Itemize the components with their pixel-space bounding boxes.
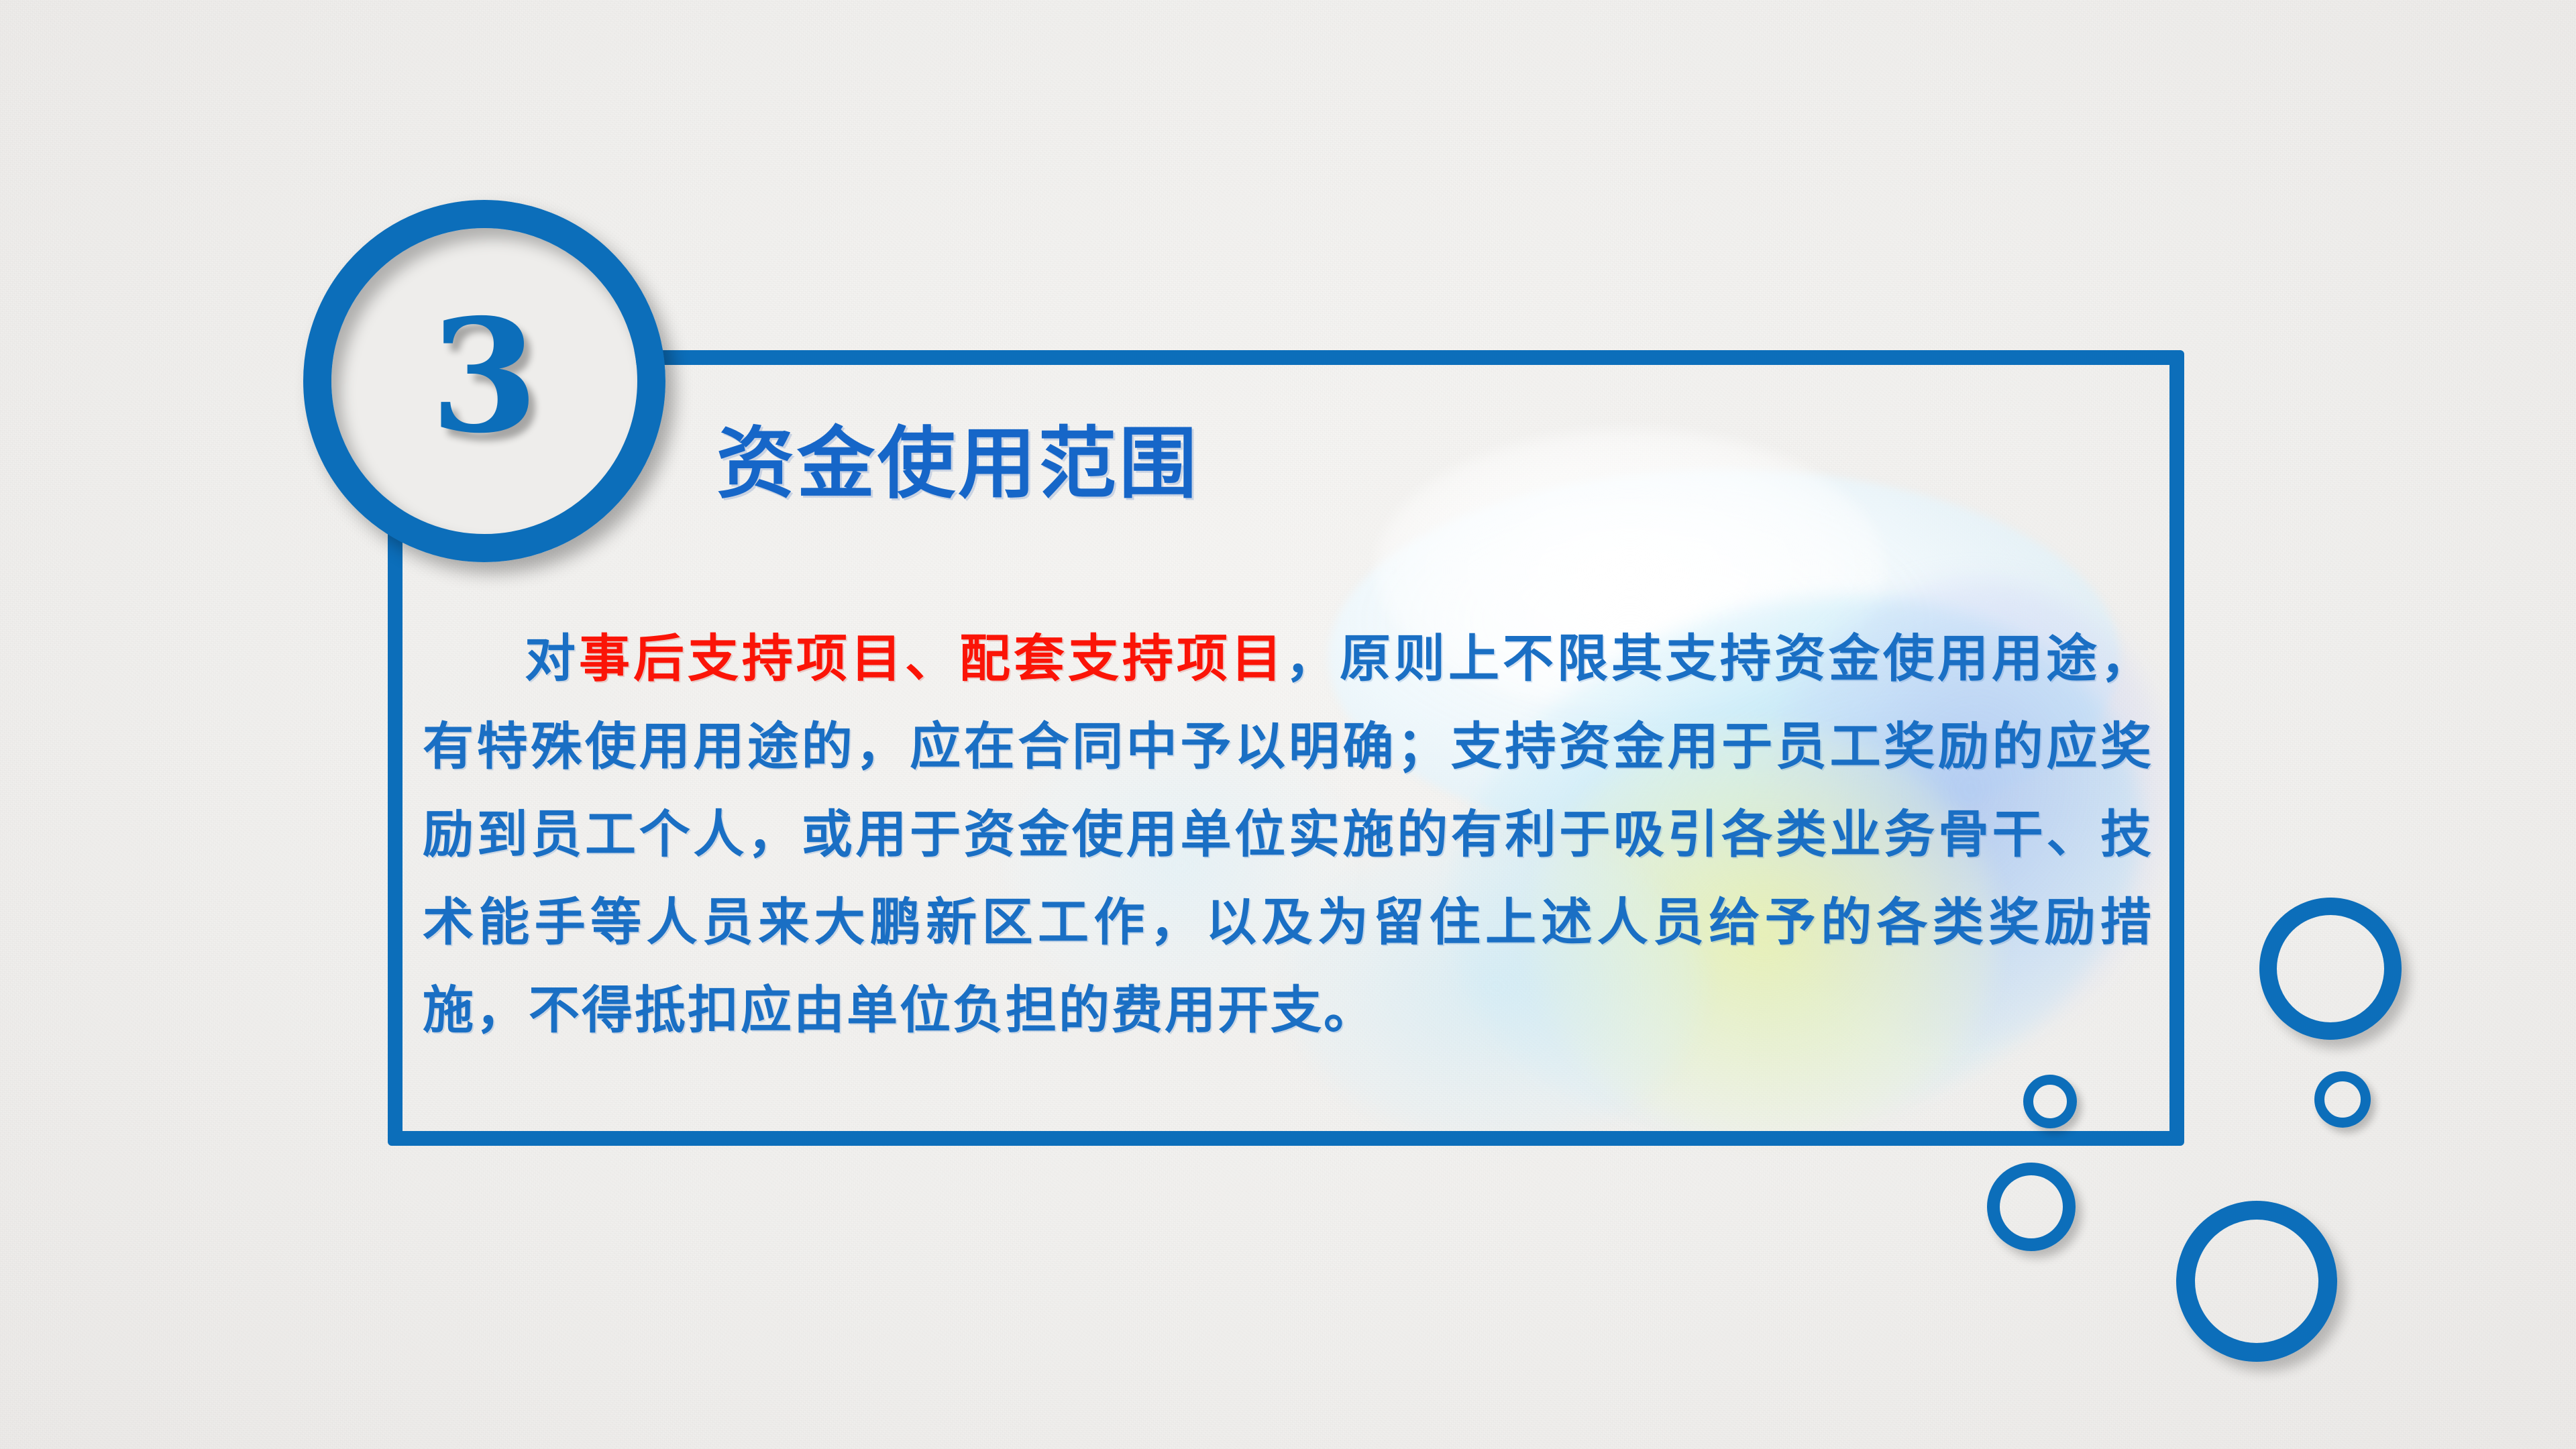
badge-outer-ring (303, 200, 665, 562)
slide-canvas: 3 资金使用范围 对事后支持项目、配套支持项目，原则上不限其支持资金使用用途，有… (0, 0, 2576, 1449)
decorative-ring-large-top-icon (2259, 898, 2402, 1040)
body-highlight-term-1: 事后支持项目 (579, 629, 905, 688)
decorative-ring-large-bottom-icon (2176, 1201, 2337, 1362)
body-paragraph: 对事后支持项目、配套支持项目，原则上不限其支持资金使用用途，有特殊使用用途的，应… (423, 614, 2153, 1054)
decorative-ring-small-right-icon (2314, 1071, 2371, 1128)
decorative-ring-medium-left-icon (1987, 1163, 2076, 1251)
decorative-ring-small-frame-icon (2023, 1075, 2077, 1128)
body-highlight-term-2: 配套支持项目 (959, 629, 1285, 688)
body-rest-text: ，原则上不限其支持资金使用用途，有特殊使用用途的，应在合同中予以明确；支持资金用… (423, 629, 2153, 1040)
page-title: 资金使用范围 (716, 419, 1199, 508)
body-highlight-separator: 、 (905, 629, 959, 688)
section-number-badge: 3 (303, 200, 665, 562)
body-lead-text: 对 (523, 629, 579, 688)
